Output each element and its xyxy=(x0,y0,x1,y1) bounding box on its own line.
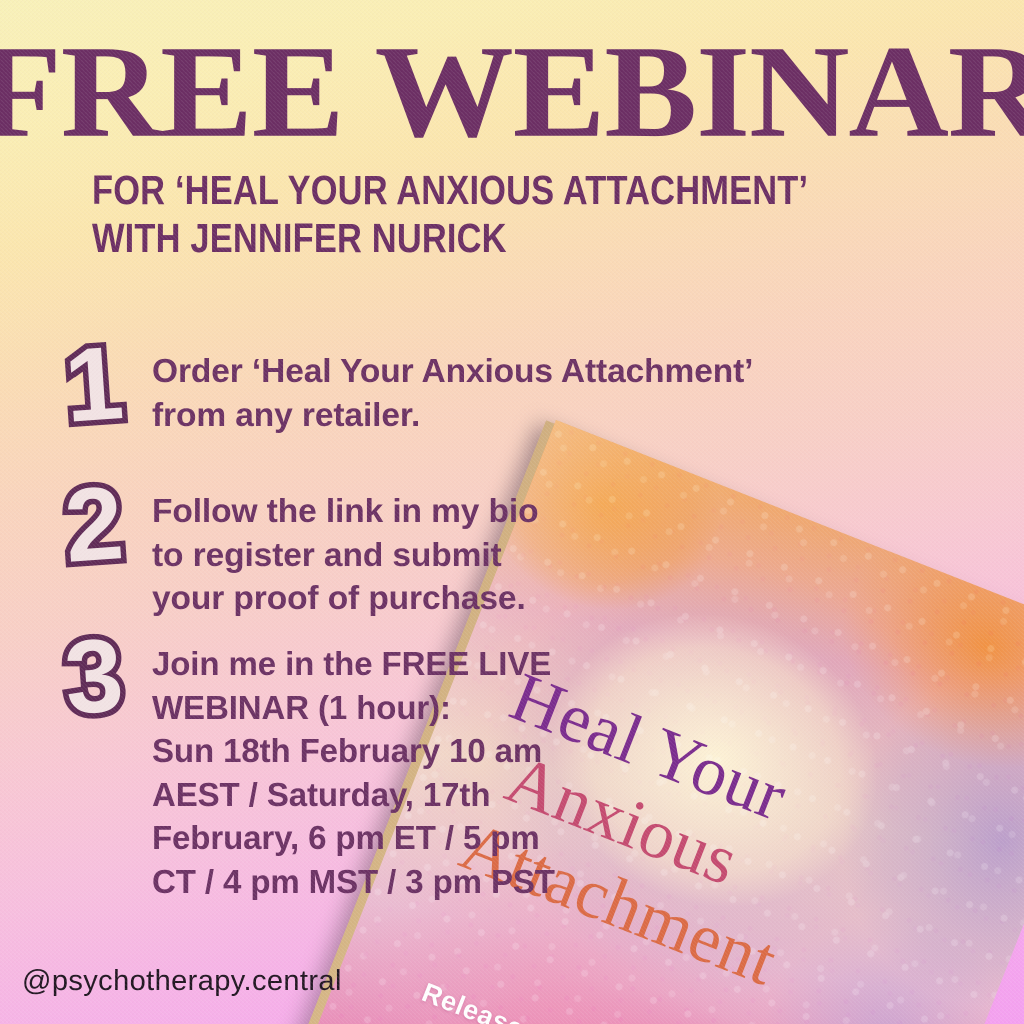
subtitle: FOR ‘HEAL YOUR ANXIOUS ATTACHMENT’ WITH … xyxy=(92,166,945,263)
poster-content: FREE WEBINAR FOR ‘HEAL YOUR ANXIOUS ATTA… xyxy=(0,0,1024,1024)
page-title-text: FREE WEBINAR xyxy=(0,26,1024,158)
step-2-line-3: your proof of purchase. xyxy=(152,577,538,621)
step-3-line-6: CT / 4 pm MST / 3 pm PST xyxy=(152,860,555,904)
step-3-line-5: February, 6 pm ET / 5 pm xyxy=(152,816,555,860)
step-item-2: 2 Follow the link in my bio to register … xyxy=(36,478,538,621)
step-number-1: 1 xyxy=(33,334,155,438)
subtitle-line-2: WITH JENNIFER NURICK xyxy=(92,214,808,262)
step-2-line-2: to register and submit xyxy=(152,534,538,578)
subtitle-line-1: FOR ‘HEAL YOUR ANXIOUS ATTACHMENT’ xyxy=(92,166,808,214)
step-text-1: Order ‘Heal Your Anxious Attachment’ fro… xyxy=(152,338,753,437)
poster-canvas: Heal Your Anxious Attachment Release Pas… xyxy=(0,0,1024,1024)
step-3-line-4: AEST / Saturday, 17th xyxy=(152,773,555,817)
step-3-line-2: WEBINAR (1 hour): xyxy=(152,686,555,730)
page-title: FREE WEBINAR xyxy=(58,26,965,144)
step-number-2: 2 xyxy=(33,474,155,578)
step-1-line-2: from any retailer. xyxy=(152,394,753,438)
step-2-line-1: Follow the link in my bio xyxy=(152,490,538,534)
step-text-2: Follow the link in my bio to register an… xyxy=(152,478,538,621)
step-3-line-3: Sun 18th February 10 am xyxy=(152,729,555,773)
step-item-1: 1 Order ‘Heal Your Anxious Attachment’ f… xyxy=(36,338,753,437)
step-3-line-1: Join me in the FREE LIVE xyxy=(152,642,555,686)
step-text-3: Join me in the FREE LIVE WEBINAR (1 hour… xyxy=(152,630,555,903)
step-number-3: 3 xyxy=(33,626,155,730)
step-1-line-1: Order ‘Heal Your Anxious Attachment’ xyxy=(152,350,753,394)
step-item-3: 3 Join me in the FREE LIVE WEBINAR (1 ho… xyxy=(36,630,555,903)
social-handle: @psychotherapy.central xyxy=(22,965,342,998)
